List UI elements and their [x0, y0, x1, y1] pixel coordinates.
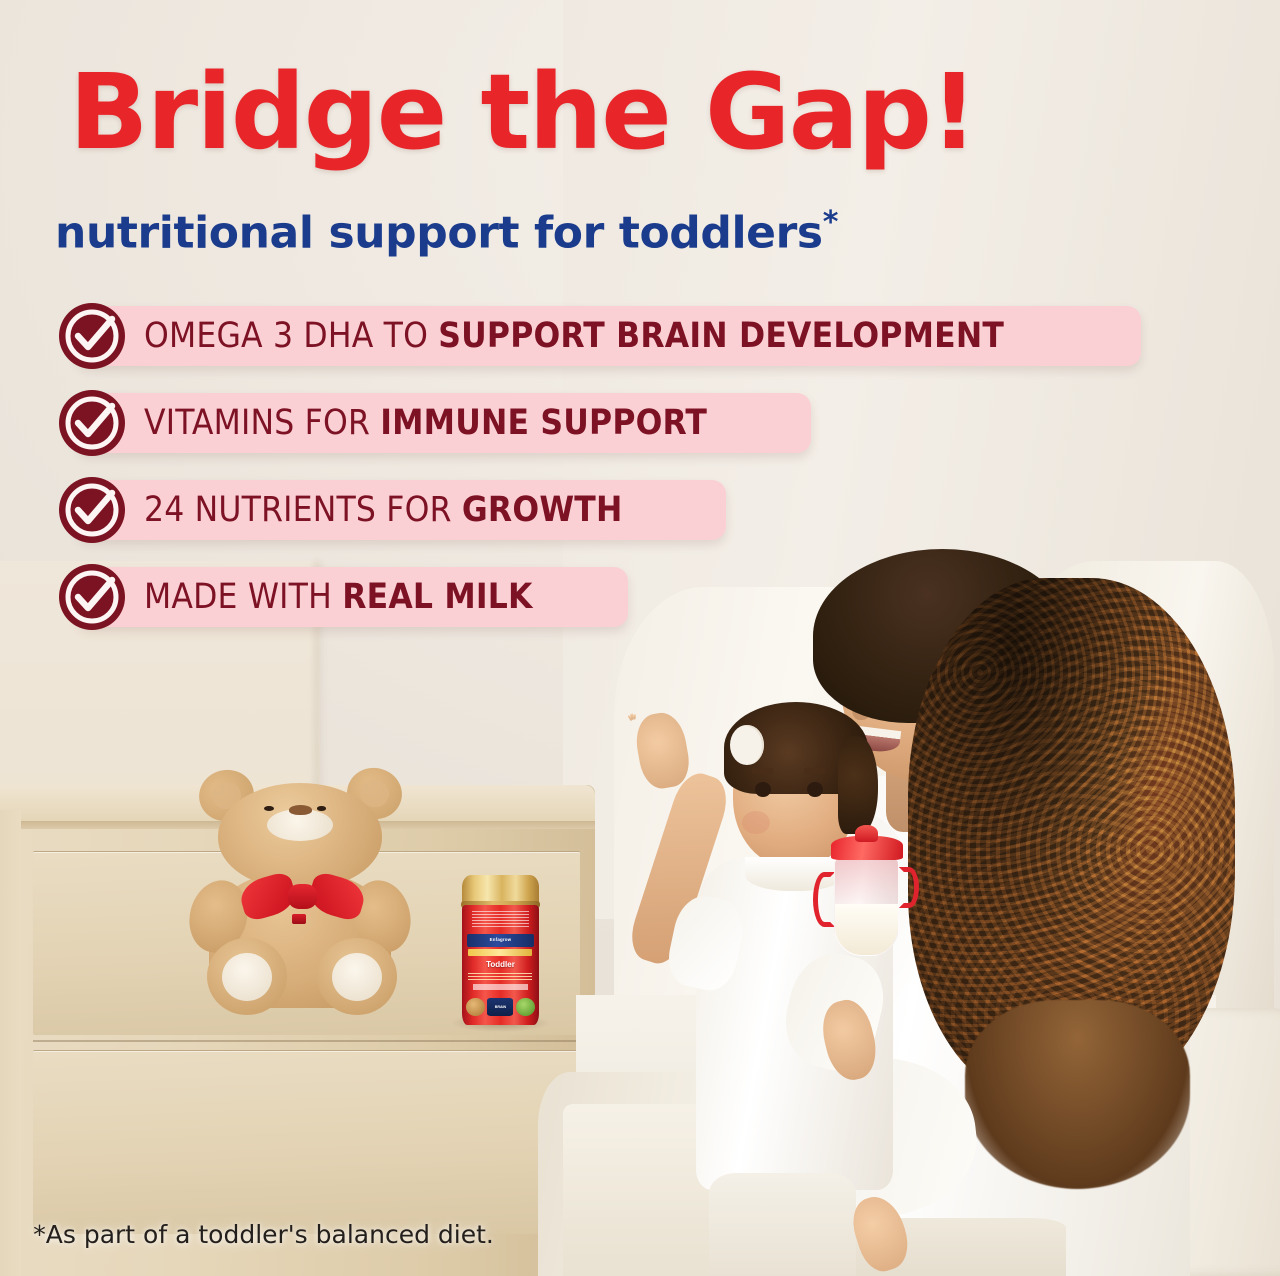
page-title: Bridge the Gap!	[69, 63, 976, 163]
benefit-lead: VITAMINS FOR	[144, 403, 380, 443]
benefit-pill: MADE WITH REAL MILK	[76, 567, 628, 627]
check-circle-icon	[58, 563, 126, 631]
subheadline-asterisk: *	[823, 205, 838, 240]
benefit-list: OMEGA 3 DHA TO SUPPORT BRAIN DEVELOPMENT…	[0, 306, 1280, 654]
list-item: VITAMINS FOR IMMUNE SUPPORT	[0, 393, 1280, 453]
benefit-pill: VITAMINS FOR IMMUNE SUPPORT	[76, 393, 811, 453]
benefit-pill: 24 NUTRIENTS FOR GROWTH	[76, 480, 726, 540]
list-item: 24 NUTRIENTS FOR GROWTH	[0, 480, 1280, 540]
benefit-lead: OMEGA 3 DHA TO	[144, 316, 438, 356]
benefit-lead: 24 NUTRIENTS FOR	[144, 490, 462, 530]
benefit-emphasis: GROWTH	[462, 490, 623, 530]
check-circle-icon	[58, 389, 126, 457]
ad-copy-overlay: Bridge the Gap! nutritional support for …	[0, 0, 1280, 1276]
benefit-lead: MADE WITH	[144, 577, 342, 617]
subheadline-text: nutritional support for toddlers	[55, 208, 823, 259]
disclaimer-footnote: *As part of a toddler's balanced diet.	[33, 1220, 494, 1249]
benefit-pill: OMEGA 3 DHA TO SUPPORT BRAIN DEVELOPMENT	[76, 306, 1141, 366]
list-item: MADE WITH REAL MILK	[0, 567, 1280, 627]
benefit-emphasis: REAL MILK	[342, 577, 532, 617]
benefit-text: OMEGA 3 DHA TO SUPPORT BRAIN DEVELOPMENT	[76, 316, 1028, 356]
benefit-text: 24 NUTRIENTS FOR GROWTH	[76, 490, 647, 530]
benefit-emphasis: SUPPORT BRAIN DEVELOPMENT	[438, 316, 1004, 356]
list-item: OMEGA 3 DHA TO SUPPORT BRAIN DEVELOPMENT	[0, 306, 1280, 366]
check-circle-icon	[58, 302, 126, 370]
subheadline: nutritional support for toddlers*	[55, 205, 838, 259]
advertisement-banner: Enfagrow Toddler BRAIN	[0, 0, 1280, 1276]
check-circle-icon	[58, 476, 126, 544]
benefit-text: MADE WITH REAL MILK	[76, 577, 557, 617]
benefit-emphasis: IMMUNE SUPPORT	[380, 403, 707, 443]
benefit-text: VITAMINS FOR IMMUNE SUPPORT	[76, 403, 731, 443]
